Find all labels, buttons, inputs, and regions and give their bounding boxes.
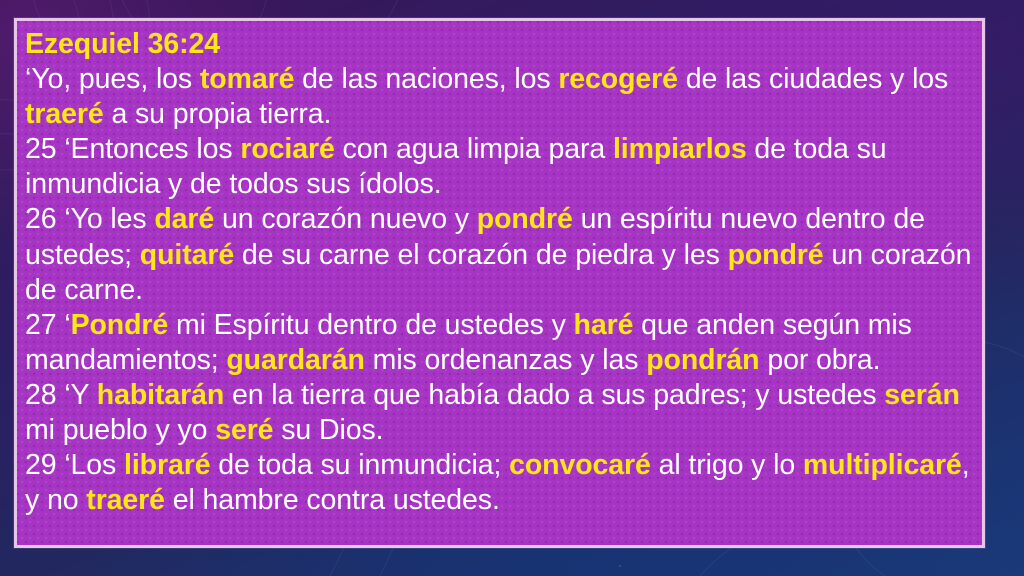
verse-text: de las ciudades y los [678, 63, 948, 95]
verse-line: 27 ‘Pondré mi Espíritu dentro de ustedes… [25, 309, 912, 376]
verse-line: 25 ‘Entonces los rociaré con agua limpia… [25, 133, 887, 200]
highlighted-word: Pondré [71, 309, 169, 341]
verse-text: un corazón nuevo y [214, 203, 477, 235]
verse-text: 28 ‘Y [25, 379, 97, 411]
highlighted-word: guardarán [226, 344, 364, 376]
verse-text: a su propia tierra. [104, 98, 332, 130]
verse-text: al trigo y lo [651, 449, 803, 481]
highlighted-word: daré [154, 203, 214, 235]
verse-line: ‘Yo, pues, los tomaré de las naciones, l… [25, 63, 948, 130]
verse-text: con agua limpia para [335, 133, 613, 165]
verse-text: 26 ‘Yo les [25, 203, 154, 235]
highlighted-word: haré [574, 309, 634, 341]
highlighted-word: habitarán [97, 379, 224, 411]
highlighted-word: convocaré [509, 449, 651, 481]
verse-text: su Dios. [273, 414, 383, 446]
verse-text: el hambre contra ustedes. [165, 484, 500, 516]
verse-text: ‘Yo, pues, los [25, 63, 200, 95]
highlighted-word: recogeré [558, 63, 678, 95]
highlighted-word: libraré [124, 449, 210, 481]
verse-line: 29 ‘Los libraré de toda su inmundicia; c… [25, 449, 970, 516]
verse-line: 28 ‘Y habitarán en la tierra que había d… [25, 379, 960, 446]
verse-text: 29 ‘Los [25, 449, 124, 481]
verse-text: por obra. [760, 344, 881, 376]
verse-reference-title: Ezequiel 36:24 [25, 27, 974, 62]
verse-text: 27 ‘ [25, 309, 71, 341]
verse-body: Ezequiel 36:24 ‘Yo, pues, los tomaré de … [25, 27, 974, 518]
verse-text: de toda su inmundicia; [210, 449, 509, 481]
verse-text: de su carne el corazón de piedra y les [234, 239, 727, 271]
highlighted-word: serán [884, 379, 960, 411]
highlighted-word: pondrán [646, 344, 759, 376]
verse-text: 25 ‘Entonces los [25, 133, 240, 165]
verse-text-panel: Ezequiel 36:24 ‘Yo, pues, los tomaré de … [14, 18, 985, 548]
highlighted-word: limpiarlos [613, 133, 747, 165]
verse-text: de las naciones, los [294, 63, 558, 95]
highlighted-word: tomaré [200, 63, 294, 95]
highlighted-word: rociaré [240, 133, 334, 165]
highlighted-word: quitaré [140, 239, 234, 271]
verse-text: mi Espíritu dentro de ustedes y [168, 309, 573, 341]
verse-text: mis ordenanzas y las [365, 344, 646, 376]
highlighted-word: traeré [86, 484, 165, 516]
verse-text: mi pueblo y yo [25, 414, 215, 446]
highlighted-word: traeré [25, 98, 104, 130]
presentation-slide: Ezequiel 36:24 ‘Yo, pues, los tomaré de … [0, 0, 1024, 576]
highlighted-word: pondré [728, 239, 824, 271]
highlighted-word: multiplicaré [803, 449, 962, 481]
verse-text: en la tierra que había dado a sus padres… [224, 379, 884, 411]
verse-line: 26 ‘Yo les daré un corazón nuevo y pondr… [25, 203, 971, 305]
highlighted-word: seré [215, 414, 273, 446]
highlighted-word: pondré [477, 203, 573, 235]
